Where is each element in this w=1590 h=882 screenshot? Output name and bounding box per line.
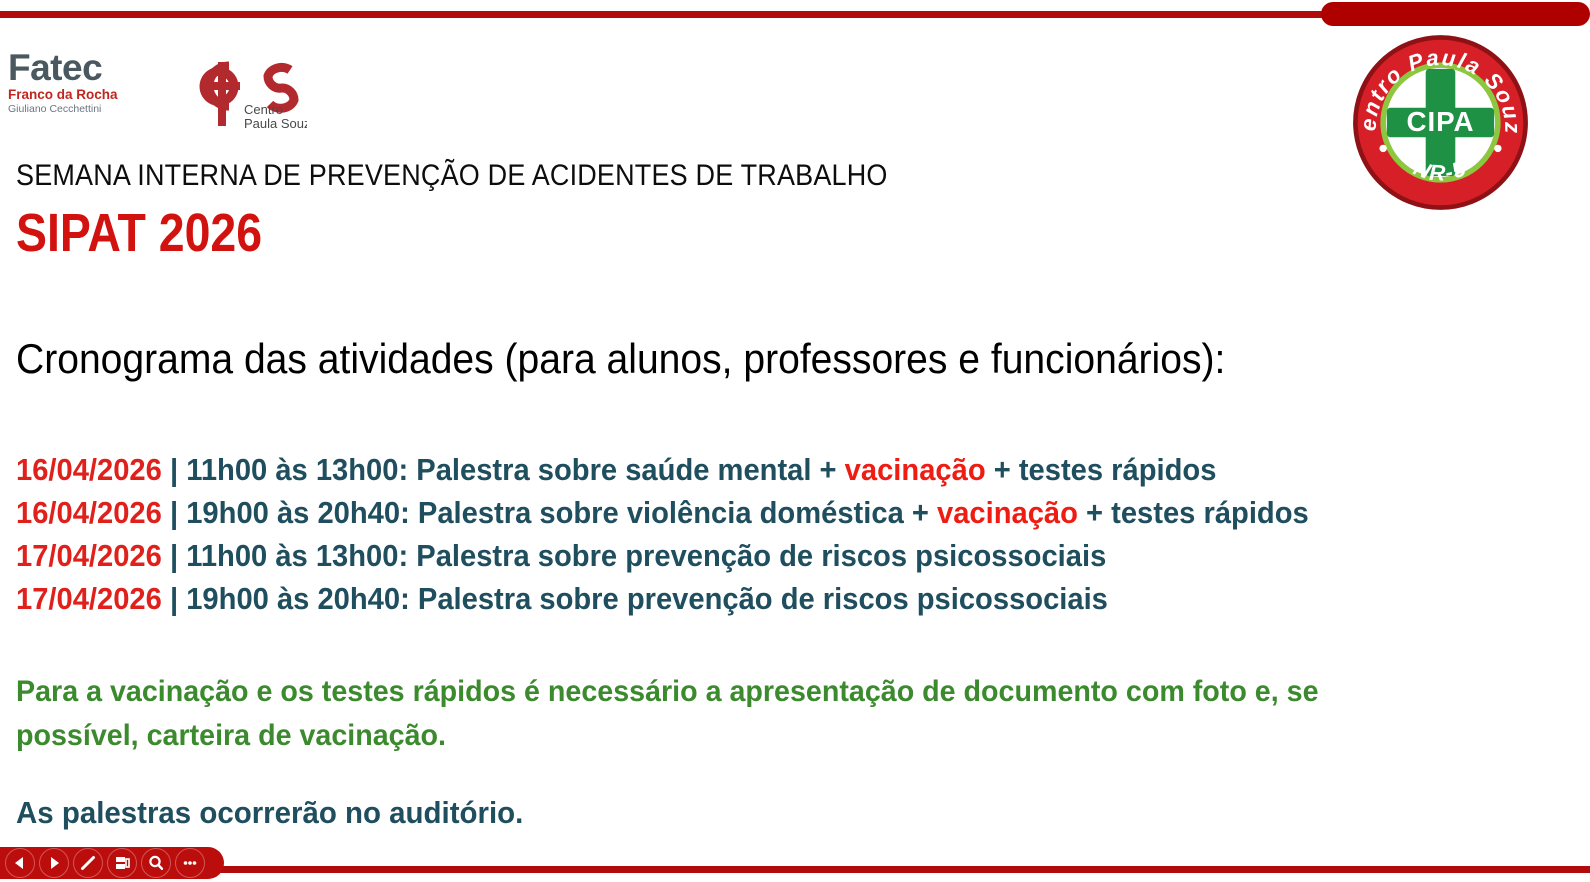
section-subtitle: Cronograma das atividades (para alunos, … [16,335,1225,383]
schedule-text-after: + testes rápidos [1078,495,1309,530]
cipa-seal-center-label: CIPA [1407,106,1475,137]
schedule-text-before: Palestra sobre saúde mental + [408,452,844,487]
pen-icon [78,853,98,873]
cipa-nr5-seal-logo: Centro Paula Souza NR-5 CIPA [1348,30,1533,215]
schedule-time: 11h00 às 13h00: [186,538,408,573]
pen-button[interactable] [71,848,105,878]
schedule-date: 17/04/2026 [16,538,162,573]
vaccination-document-note: Para a vacinação e os testes rápidos é n… [16,670,1401,758]
schedule-list: 16/04/2026 | 11h00 às 13h00: Palestra so… [16,448,1556,620]
schedule-text-after: + testes rápidos [986,452,1217,487]
auditorium-note: As palestras ocorrerão no auditório. [16,795,523,831]
schedule-date: 16/04/2026 [16,495,162,530]
schedule-highlight: vacinação [937,495,1078,530]
schedule-separator: | [170,495,178,530]
fatec-logo-person: Giuliano Cecchettini [8,103,138,116]
schedule-time: 19h00 às 20h40: [186,581,410,616]
schedule-separator: | [170,538,178,573]
schedule-row: 17/04/2026 | 19h00 às 20h40: Palestra so… [16,577,1464,620]
bottom-accent-rule [0,866,1590,873]
presentation-toolbar [0,847,224,879]
top-accent-pill [1321,2,1590,26]
cps-logo-icon: Centro Paula Souza [182,44,307,132]
cipa-seal-icon: Centro Paula Souza NR-5 CIPA [1348,30,1533,215]
presentation-slide: Fatec Franco da Rocha Giuliano Cecchetti… [0,0,1590,882]
schedule-separator: | [170,452,178,487]
more-options-button[interactable] [173,848,207,878]
zoom-button[interactable] [139,848,173,878]
schedule-row: 16/04/2026 | 19h00 às 20h40: Palestra so… [16,491,1464,534]
schedule-time: 19h00 às 20h40: [186,495,410,530]
schedule-text-before: Palestra sobre violência doméstica + [410,495,937,530]
magnifier-icon [146,853,166,873]
schedule-date: 16/04/2026 [16,452,162,487]
schedule-separator: | [170,581,178,616]
triangle-left-icon [10,853,30,873]
fatec-logo-wordmark: Fatec [8,50,138,86]
schedule-row: 17/04/2026 | 11h00 às 13h00: Palestra so… [16,534,1464,577]
top-accent-rule [0,11,1370,18]
next-slide-button[interactable] [37,848,71,878]
triangle-right-icon [44,853,64,873]
schedule-date: 17/04/2026 [16,581,162,616]
previous-slide-button[interactable] [3,848,37,878]
schedule-text-before: Palestra sobre prevenção de riscos psico… [410,581,1108,616]
centro-paula-souza-logo: Centro Paula Souza [182,44,307,132]
schedule-highlight: vacinação [845,452,986,487]
page-title: SIPAT 2026 [16,202,262,264]
cps-logo-line1: Centro [244,102,283,117]
schedule-text-before: Palestra sobre prevenção de riscos psico… [408,538,1106,573]
fatec-logo: Fatec Franco da Rocha Giuliano Cecchetti… [8,50,138,116]
schedule-time: 11h00 às 13h00: [186,452,408,487]
fatec-logo-unit: Franco da Rocha [8,87,138,104]
page-kicker: SEMANA INTERNA DE PREVENÇÃO DE ACIDENTES… [16,159,888,193]
ellipsis-icon [180,853,200,873]
cps-logo-line2: Paula Souza [244,116,307,131]
schedule-row: 16/04/2026 | 11h00 às 13h00: Palestra so… [16,448,1464,491]
slide-overview-button[interactable] [105,848,139,878]
grid-slides-icon [112,853,132,873]
